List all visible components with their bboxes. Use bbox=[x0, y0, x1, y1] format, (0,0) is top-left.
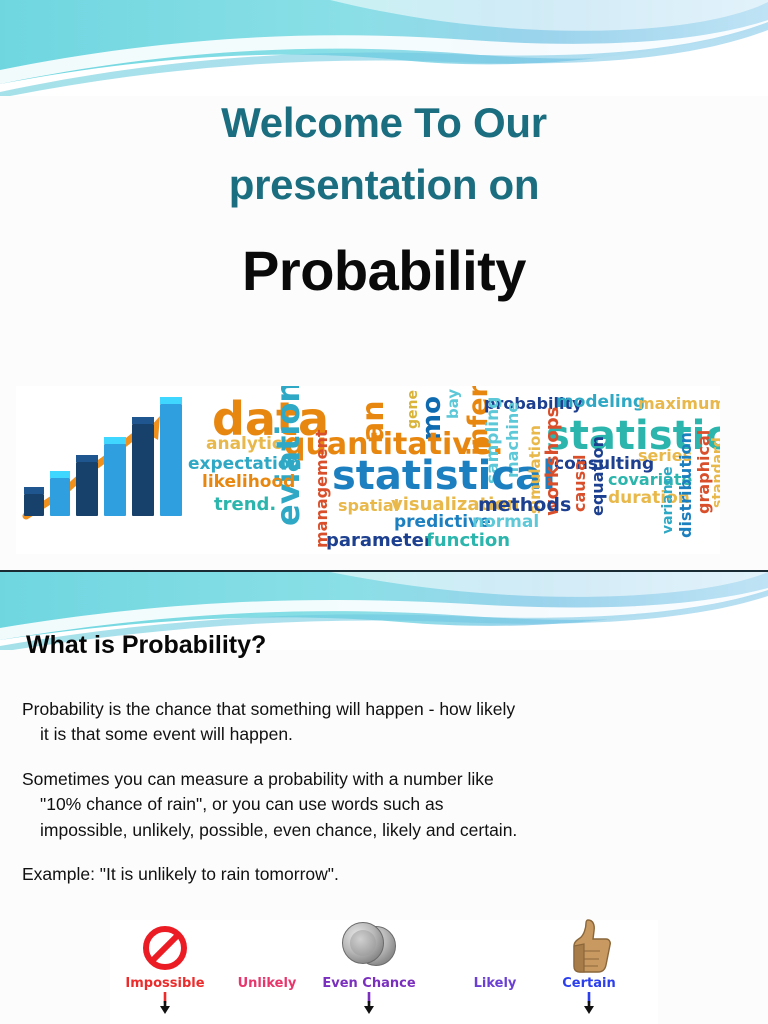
wordcloud-image: dataangenemobayinferprobabilitymodelingm… bbox=[16, 386, 720, 554]
wordcloud-word: modeling bbox=[556, 394, 645, 411]
chart-bar bbox=[76, 462, 98, 516]
scale-item-even-chance: Even Chance bbox=[314, 920, 424, 1014]
chart-bar bbox=[160, 404, 182, 516]
paragraph-line: Probability is the chance that something… bbox=[22, 697, 722, 722]
probability-scale-image: ImpossibleUnlikelyEven ChanceLikelyCerta… bbox=[110, 920, 658, 1024]
bar-chart-clipart bbox=[22, 404, 190, 534]
title-line-2: presentation on bbox=[0, 154, 768, 216]
chart-bar bbox=[104, 444, 126, 516]
slide-title: Welcome To Our presentation on Probabili… bbox=[0, 0, 768, 572]
presentation-deck: Welcome To Our presentation on Probabili… bbox=[0, 0, 768, 1024]
wordcloud-word: variance bbox=[661, 467, 675, 534]
wordcloud-word: causal bbox=[572, 455, 588, 512]
wordcloud-word: eviation bbox=[272, 386, 304, 526]
paragraph: Example: "It is unlikely to rain tomorro… bbox=[22, 862, 722, 887]
body-text: Probability is the chance that something… bbox=[22, 697, 722, 906]
wordcloud-word: standard bbox=[711, 437, 720, 508]
title-line-1: Welcome To Our bbox=[0, 92, 768, 154]
paragraph-line: it is that some event will happen. bbox=[22, 722, 722, 747]
wordcloud-word: distribution bbox=[678, 432, 694, 538]
wordcloud-word: spatial bbox=[338, 498, 399, 514]
wordcloud-word: equation bbox=[590, 436, 606, 516]
paragraph-line: impossible, unlikely, possible, even cha… bbox=[22, 818, 722, 843]
scale-label: Certain bbox=[534, 976, 644, 991]
scale-arrow-icon bbox=[314, 992, 424, 1014]
paragraph-line: "10% chance of rain", or you can use wor… bbox=[22, 792, 722, 817]
scale-arrow-icon bbox=[110, 992, 220, 1014]
thumbs-up-icon bbox=[566, 918, 612, 974]
decorative-wave-banner-top bbox=[0, 0, 768, 96]
no-entry-icon bbox=[143, 926, 187, 970]
paragraph-line: Example: "It is unlikely to rain tomorro… bbox=[22, 862, 722, 887]
wordcloud-word: maximum bbox=[638, 396, 720, 412]
wordcloud-word: parameter bbox=[326, 532, 433, 550]
paragraph-line: Sometimes you can measure a probability … bbox=[22, 767, 722, 792]
title-block: Welcome To Our presentation on Probabili… bbox=[0, 92, 768, 305]
wordcloud-word: bay bbox=[446, 389, 461, 419]
paragraph: Sometimes you can measure a probability … bbox=[22, 767, 722, 843]
scale-label: Impossible bbox=[110, 976, 220, 991]
wordcloud-word: statistical bbox=[332, 456, 556, 496]
scale-label: Unlikely bbox=[212, 976, 322, 991]
scale-arrow-icon bbox=[534, 992, 644, 1014]
scale-label: Even Chance bbox=[314, 976, 424, 991]
wordcloud-word: likelihood bbox=[202, 474, 295, 491]
wordcloud-word: normal bbox=[472, 514, 539, 531]
presentation-subject: Probability bbox=[0, 237, 768, 304]
scale-item-certain: Certain bbox=[534, 920, 644, 1014]
scale-item-impossible: Impossible bbox=[110, 920, 220, 1014]
chart-bar bbox=[50, 478, 70, 516]
wordcloud-word: trend. bbox=[214, 496, 276, 514]
coins-icon bbox=[340, 922, 398, 972]
chart-bar bbox=[24, 494, 44, 516]
chart-bar bbox=[132, 424, 154, 516]
page-title: What is Probability? bbox=[26, 631, 266, 660]
paragraph: Probability is the chance that something… bbox=[22, 697, 722, 748]
wordcloud-word: function bbox=[426, 532, 510, 550]
scale-item-unlikely: Unlikely bbox=[212, 920, 322, 991]
